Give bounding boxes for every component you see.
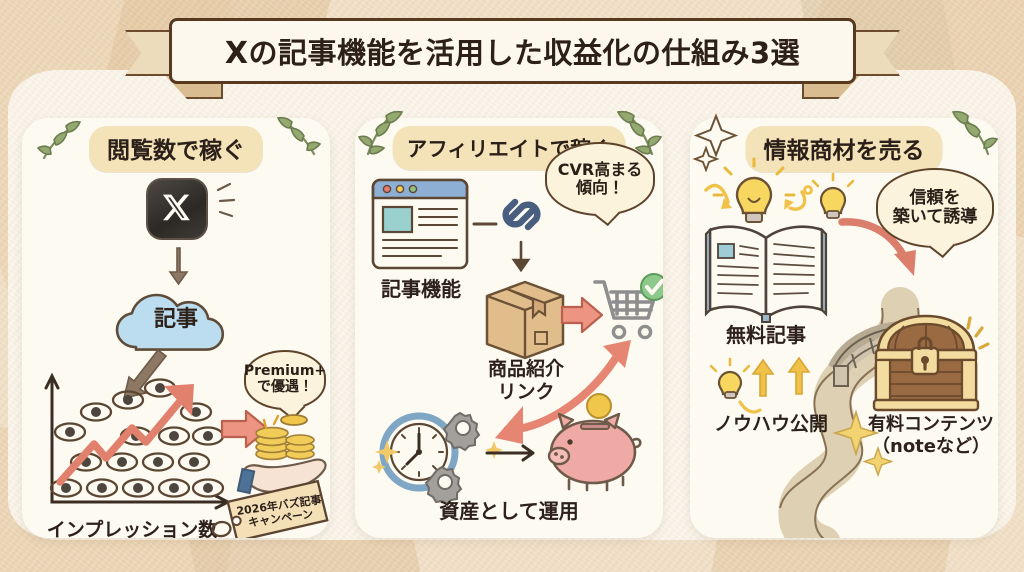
knowhow-arrows: [704, 352, 834, 416]
clock-and-gears-icon: [373, 394, 489, 506]
cvr-bubble-line1: CVR高まる: [558, 161, 642, 179]
ribbon-band: Xの記事機能を活用した収益化の仕組み3選: [169, 18, 856, 84]
chain-link-icon: [495, 186, 549, 242]
article-window-icon: [369, 176, 473, 276]
leaf-sprig-icon: [952, 108, 998, 160]
asset-operation-label: 資産として運用: [399, 500, 619, 523]
article-window-label: 記事機能: [363, 278, 479, 301]
article-cloud-label: 記事: [110, 307, 242, 332]
leaf-sprig-icon: [36, 116, 82, 168]
arrow-down-icon: [510, 240, 534, 274]
check-circle-icon: [641, 274, 663, 300]
trust-bubble-line1: 信頼を: [893, 189, 978, 208]
treasure-chest-icon: [868, 308, 984, 416]
impressions-axis-label: インプレッション数: [32, 520, 232, 538]
arrow-down-icon: [164, 246, 192, 286]
free-article-label: 無料記事: [704, 324, 828, 347]
title-x-mark: X: [225, 36, 249, 71]
premium-bubble-line1: Premium+: [244, 364, 326, 380]
sparkle-icon: [694, 112, 750, 172]
sparkle-lines-icon: [214, 180, 248, 220]
impressions-chart: [36, 370, 236, 520]
trust-bubble: 信頼を 築いて誘導: [876, 168, 994, 248]
card-views-title: 閲覧数で稼ぐ: [89, 126, 263, 172]
leaf-sprig-icon: [358, 108, 404, 160]
gear-icon: [444, 413, 479, 450]
open-book-icon: [702, 218, 830, 326]
page-title: Xの記事機能を活用した収益化の仕組み3選: [225, 30, 800, 72]
trust-bubble-line2: 築いて誘導: [893, 208, 978, 227]
x-logo-icon: [146, 178, 208, 240]
premium-bubble: Premium+ で優遇！: [244, 350, 326, 410]
card-affiliate[interactable]: アフィリエイトで稼ぐ 記事機能: [355, 118, 663, 538]
card-infoproduct-body: 情報商材を売る: [690, 118, 998, 538]
knowhow-label: ノウハウ公開: [696, 414, 846, 436]
cvr-bubble-line2: 傾向！: [558, 179, 642, 197]
card-infoproduct[interactable]: 情報商材を売る: [690, 118, 998, 538]
leaf-sprig-icon: [276, 112, 322, 164]
lightbulb-icon: [711, 359, 749, 398]
piggy-bank-icon: [539, 384, 649, 494]
leaf-sprig-icon: [616, 108, 662, 160]
title-rest: の記事機能を活用した収益化の仕組み3選: [248, 36, 800, 70]
card-affiliate-body: アフィリエイトで稼ぐ 記事機能: [355, 118, 663, 538]
infographic-canvas: Xの記事機能を活用した収益化の仕組み3選 閲覧数で稼ぐ: [0, 0, 1024, 572]
title-ribbon: Xの記事機能を活用した収益化の仕組み3選: [125, 18, 900, 88]
premium-bubble-line2: で優遇！: [244, 380, 326, 396]
arrow-right-thin-icon: [485, 442, 541, 464]
card-views-body: 閲覧数で稼ぐ 記事: [22, 118, 330, 538]
sparkle-icon: [834, 408, 894, 478]
card-views[interactable]: 閲覧数で稼ぐ 記事: [22, 118, 330, 538]
connector-dash: [473, 220, 497, 228]
